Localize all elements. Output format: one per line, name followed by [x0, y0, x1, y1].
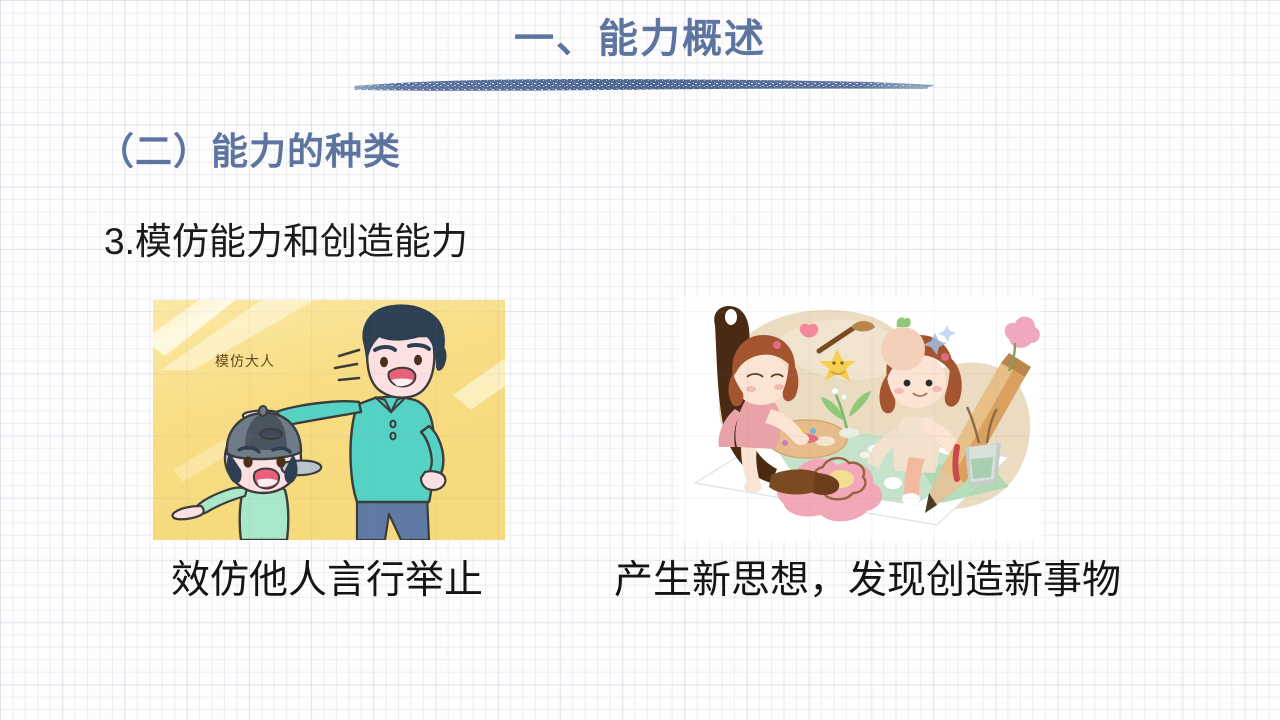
- page-title: 一、能力概述: [340, 16, 940, 62]
- imitation-illustration: 模仿大人: [153, 300, 505, 540]
- creativity-illustration-art: [679, 297, 1041, 540]
- creativity-illustration: [679, 297, 1041, 540]
- title-underline-brushstroke: [352, 76, 937, 93]
- caption-imitation: 效仿他人言行举止: [171, 549, 483, 605]
- title-block: 一、能力概述: [340, 16, 940, 62]
- slide-canvas: 一、能力概述 （二）能力的种类: [0, 0, 1280, 720]
- caption-creativity: 产生新思想，发现创造新事物: [614, 549, 1121, 605]
- section-subtitle: （二）能力的种类: [97, 121, 401, 175]
- imitation-inner-label: 模仿大人: [215, 353, 275, 369]
- imitation-illustration-art: 模仿大人: [153, 300, 505, 540]
- body-item-text: 3.模仿能力和创造能力: [104, 211, 468, 265]
